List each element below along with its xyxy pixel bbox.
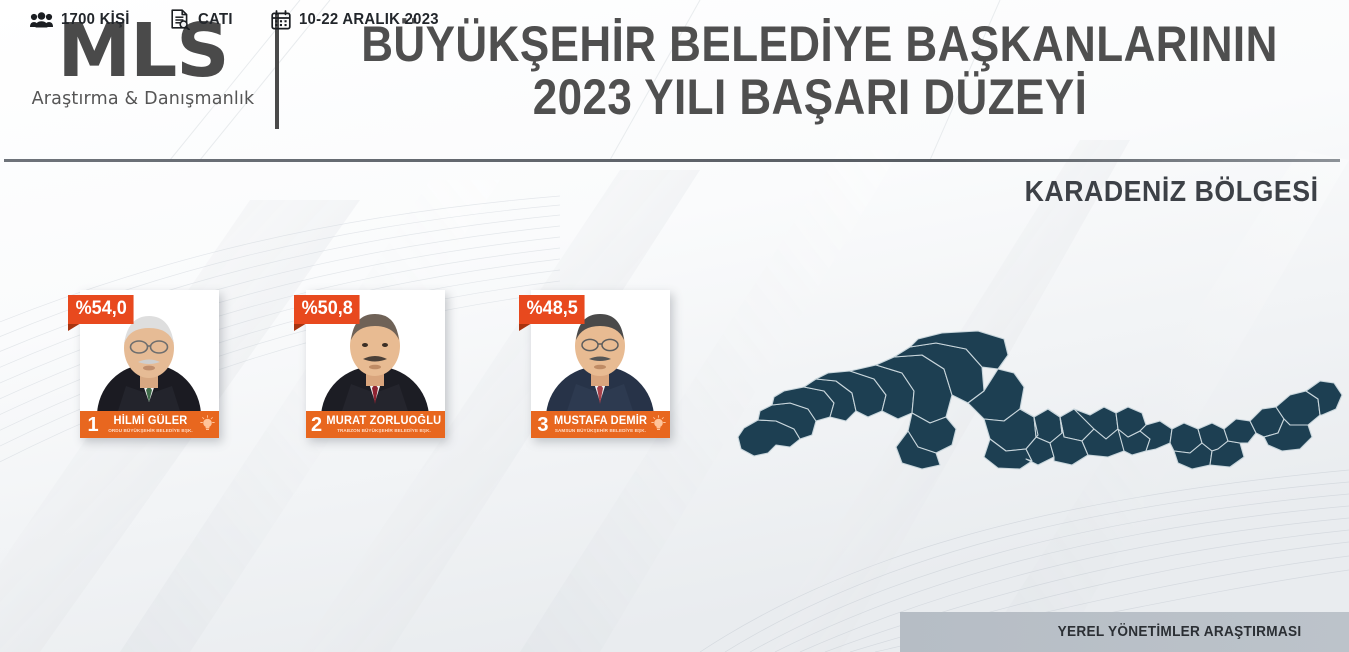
candidate-role-2: TRABZON BÜYÜKŞEHİR BELEDİYE BŞK. [324, 428, 444, 434]
title-line-1: BÜYÜKŞEHİR BELEDİYE BAŞKANLARININ [361, 18, 1259, 71]
page-title: BÜYÜKŞEHİR BELEDİYE BAŞKANLARININ 2023 Y… [300, 18, 1320, 124]
lightbulb-icon [651, 415, 666, 434]
candidate-card-1[interactable]: %54,0 1 HİLMİ GÜLER ORDU BÜYÜKŞEHİR BELE… [80, 290, 219, 438]
rank-number-1: 1 [85, 415, 101, 435]
rank-number-3: 3 [536, 415, 550, 435]
candidate-name-3: MUSTAFA DEMİR [554, 415, 647, 428]
logo-divider [275, 14, 279, 129]
candidate-name-1: HİLMİ GÜLER [105, 415, 196, 428]
calendar-icon [271, 10, 291, 30]
black-sea-region-map [716, 325, 1349, 475]
lightbulb-icon [200, 415, 215, 434]
method-text: CATI [198, 11, 233, 29]
rank-number-2: 2 [311, 415, 322, 435]
candidate-card-2[interactable]: %50,8 2 MURAT ZORLUOĞLU TRABZON BÜYÜKŞEH… [306, 290, 445, 438]
footer-meta: 1700 KİŞİ CATI [30, 9, 486, 30]
percent-badge-1: %54,0 [68, 295, 133, 324]
people-icon [30, 12, 53, 28]
sample-size-text: 1700 KİŞİ [61, 11, 130, 29]
candidate-namebar-1: 1 HİLMİ GÜLER ORDU BÜYÜKŞEHİR BELEDİYE B… [80, 411, 219, 438]
candidate-role-3: SAMSUN BÜYÜKŞEHİR BELEDİYE BŞK. [552, 428, 649, 434]
percent-badge-2: %50,8 [294, 295, 359, 324]
document-search-icon [171, 9, 190, 30]
candidate-role-1: ORDU BÜYÜKŞEHİR BELEDİYE BŞK. [103, 428, 198, 434]
header-divider [4, 159, 1340, 162]
candidate-name-2: MURAT ZORLUOĞLU [327, 415, 442, 428]
date-range-text: 10-22 ARALIK 2023 [299, 11, 439, 29]
title-line-2: 2023 YILI BAŞARI DÜZEYİ [361, 71, 1259, 124]
footer-method: CATI [171, 9, 235, 30]
logo-tagline: Araştırma & Danışmanlık [18, 89, 268, 109]
region-label: KARADENİZ BÖLGESİ [1025, 176, 1319, 209]
candidate-namebar-3: 3 MUSTAFA DEMİR SAMSUN BÜYÜKŞEHİR BELEDİ… [531, 411, 670, 438]
footer-sample: 1700 KİŞİ [30, 11, 135, 29]
candidate-card-3[interactable]: %48,5 3 MUSTAFA DEMİR SAMSUN BÜYÜKŞEHİR … [531, 290, 670, 438]
footer-date: 10-22 ARALIK 2023 [271, 10, 449, 30]
candidate-namebar-2: 2 MURAT ZORLUOĞLU TRABZON BÜYÜKŞEHİR BEL… [306, 411, 445, 438]
percent-badge-3: %48,5 [519, 295, 584, 324]
footer: YEREL YÖNETİMLER ARAŞTIRMASI [0, 612, 1349, 652]
study-name: YEREL YÖNETİMLER ARAŞTIRMASI [1057, 624, 1301, 640]
